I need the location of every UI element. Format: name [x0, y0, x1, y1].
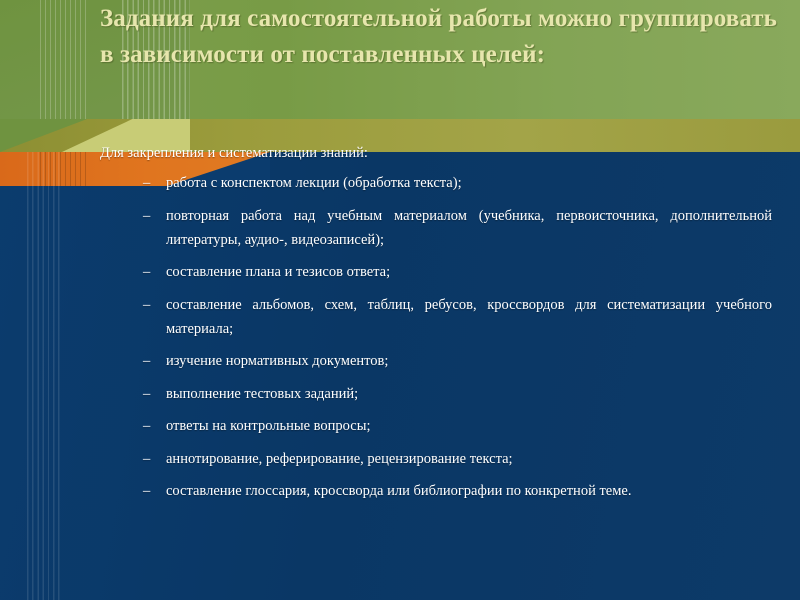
bullet-text: работа с конспектом лекции (обработка те…	[166, 175, 462, 191]
bullet-item: –повторная работа над учебным материалом…	[143, 204, 772, 252]
bullet-item: –составление плана и тезисов ответа;	[143, 260, 772, 284]
slide-title: Задания для самостоятельной работы можно…	[100, 1, 790, 73]
header-stripe-group-left	[38, 0, 88, 119]
bullet-dash-marker: –	[143, 479, 150, 503]
bullet-text: изучение нормативных документов;	[166, 353, 388, 369]
bullet-item: –изучение нормативных документов;	[143, 349, 772, 373]
bullet-item: –ответы на контрольные вопросы;	[143, 414, 772, 438]
bullet-text: аннотирование, реферирование, рецензиров…	[166, 451, 513, 467]
bullet-dash-marker: –	[143, 414, 150, 438]
bullet-item: –составление альбомов, схем, таблиц, реб…	[143, 293, 772, 341]
content-intro-line: Для закрепления и систематизации знаний:	[100, 143, 772, 163]
bullet-text: составление плана и тезисов ответа;	[166, 264, 390, 280]
bullet-dash-marker: –	[143, 349, 150, 373]
bullet-text: составление альбомов, схем, таблиц, ребу…	[166, 297, 772, 337]
body-stripe-group	[25, 152, 63, 600]
bullet-text: выполнение тестовых заданий;	[166, 386, 358, 402]
bullet-item: –выполнение тестовых заданий;	[143, 382, 772, 406]
bullet-dash-marker: –	[143, 293, 150, 317]
presentation-slide: Задания для самостоятельной работы можно…	[0, 0, 800, 600]
bullet-item: –аннотирование, реферирование, рецензиро…	[143, 447, 772, 471]
bullet-dash-marker: –	[143, 260, 150, 284]
bullet-text: повторная работа над учебным материалом …	[166, 208, 772, 248]
bullet-list: –работа с конспектом лекции (обработка т…	[100, 171, 772, 503]
bullet-text: ответы на контрольные вопросы;	[166, 418, 371, 434]
bullet-text: составление глоссария, кроссворда или би…	[166, 483, 631, 499]
bullet-dash-marker: –	[143, 382, 150, 406]
bullet-item: –работа с конспектом лекции (обработка т…	[143, 171, 772, 195]
slide-content: Для закрепления и систематизации знаний:…	[100, 143, 772, 512]
bullet-dash-marker: –	[143, 204, 150, 228]
bullet-item: –составление глоссария, кроссворда или б…	[143, 479, 772, 503]
bullet-dash-marker: –	[143, 447, 150, 471]
bullet-dash-marker: –	[143, 171, 150, 195]
